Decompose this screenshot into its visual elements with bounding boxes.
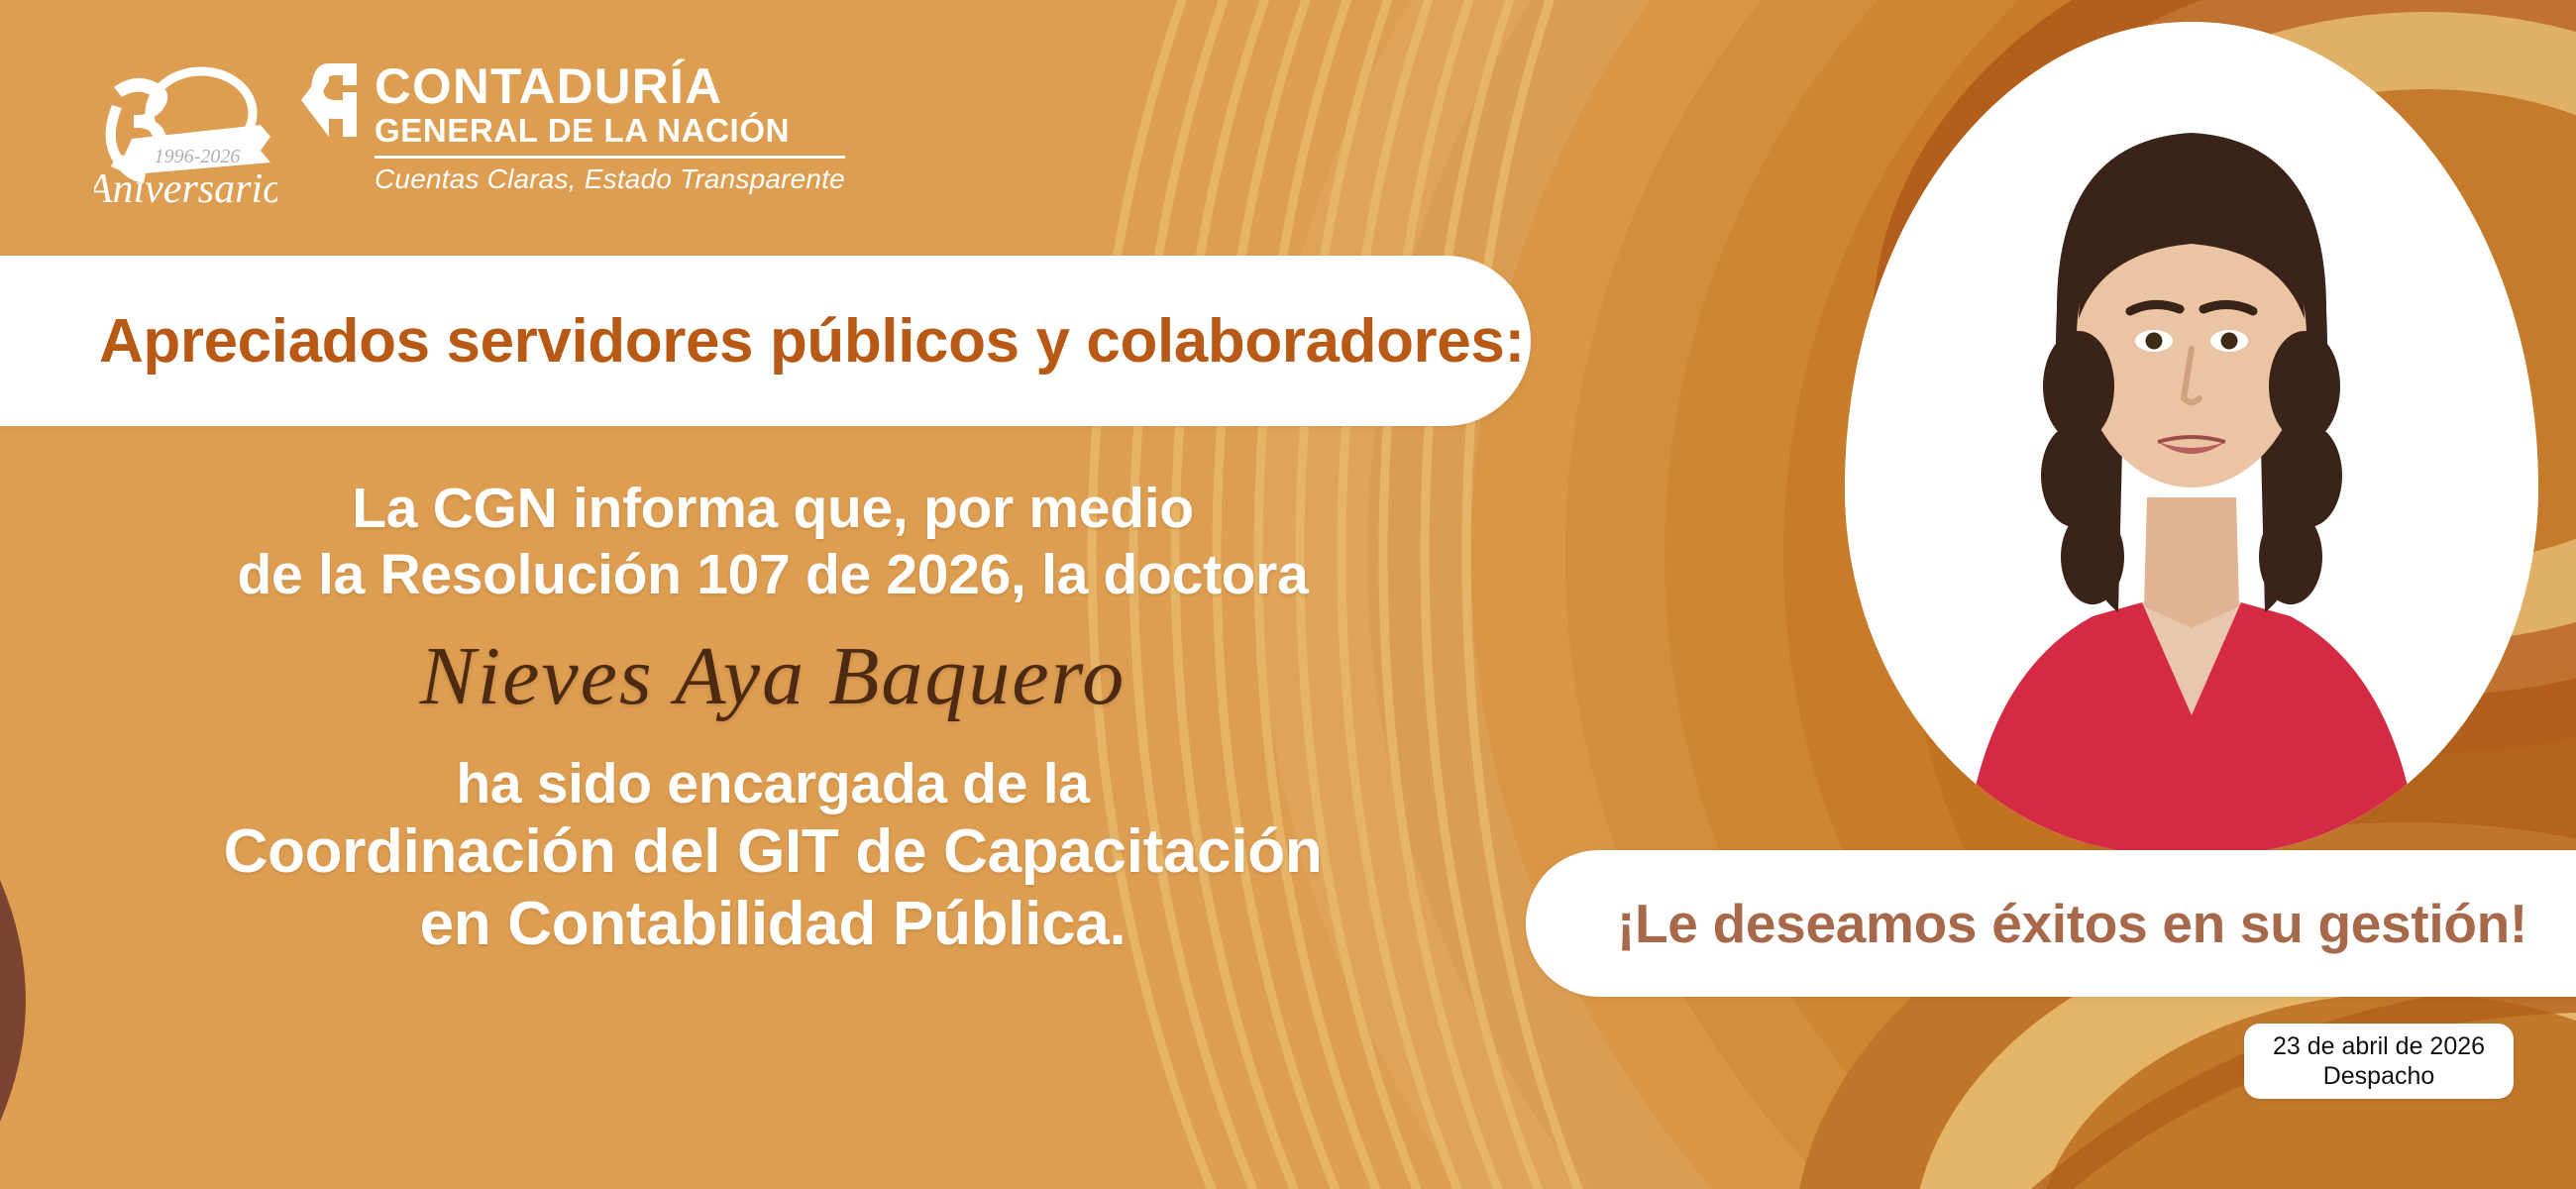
honoree-name: Nieves Aya Baquero	[0, 633, 1546, 720]
cgn-arrow-g-icon	[299, 61, 361, 139]
wishes-pill: ¡Le deseamos éxitos en su gestión!	[1526, 850, 2576, 997]
message-line-3: ha sido encargada de la	[0, 751, 1546, 817]
portrait-nieves-aya-baquero	[1845, 22, 2538, 854]
announcement-banner: 1996-2026 Aniversario CONTADURÍA GENERAL…	[0, 0, 2576, 1189]
message-line-2: de la Resolución 107 de 2026, la doctora	[0, 542, 1546, 608]
anniversary-word-text: Aniversario	[94, 166, 277, 210]
date-card: 23 de abril de 2026 Despacho	[2244, 1024, 2514, 1099]
cgn-logo-lockup: CONTADURÍA GENERAL DE LA NACIÓN Cuentas …	[299, 61, 845, 195]
wishes-text: ¡Le deseamos éxitos en su gestión!	[1617, 892, 2527, 955]
date-text: 23 de abril de 2026	[2273, 1031, 2485, 1062]
cgn-divider	[375, 156, 845, 159]
cgn-title-line2: GENERAL DE LA NACIÓN	[375, 113, 845, 150]
message-block: La CGN informa que, por medio de la Reso…	[0, 476, 1546, 960]
cgn-tagline: Cuentas Claras, Estado Transparente	[375, 163, 845, 195]
message-line-5: en Contabilidad Pública.	[0, 889, 1546, 961]
cgn-title-line1: CONTADURÍA	[375, 61, 854, 111]
anniversary-years-text: 1996-2026	[155, 146, 241, 167]
logo-row: 1996-2026 Aniversario CONTADURÍA GENERAL…	[94, 52, 845, 210]
anniversary-30-emblem-icon: 1996-2026 Aniversario	[94, 52, 277, 210]
headline-pill: Apreciados servidores públicos y colabor…	[0, 256, 1531, 426]
message-line-1: La CGN informa que, por medio	[0, 476, 1546, 542]
portrait-oval-frame	[1845, 22, 2538, 854]
headline-text: Apreciados servidores públicos y colabor…	[99, 306, 1525, 377]
cgn-wordmark: CONTADURÍA GENERAL DE LA NACIÓN Cuentas …	[375, 61, 845, 195]
role-block: ha sido encargada de la Coordinación del…	[0, 751, 1546, 961]
office-text: Despacho	[2323, 1061, 2435, 1092]
message-line-4: Coordinación del GIT de Capacitación	[0, 816, 1546, 889]
